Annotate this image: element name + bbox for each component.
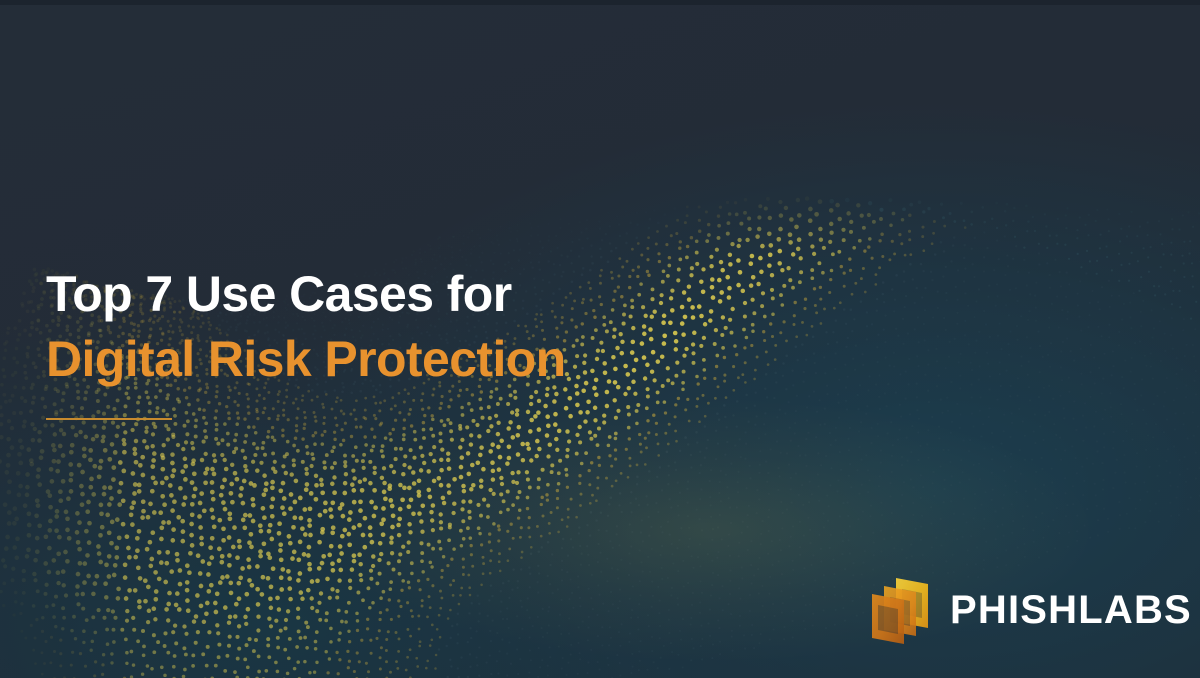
headline-divider-rule <box>46 418 172 420</box>
phishlabs-layered-squares-icon <box>866 574 934 646</box>
title-slide: Top 7 Use Cases for Digital Risk Protect… <box>0 0 1200 678</box>
phishlabs-wordmark: PHISHLABS . <box>950 590 1192 630</box>
phishlabs-wordmark-text: PHISHLABS <box>950 588 1192 632</box>
headline-line-1: Top 7 Use Cases for <box>46 262 746 327</box>
headline-line-2: Digital Risk Protection <box>46 327 746 392</box>
headline-block: Top 7 Use Cases for Digital Risk Protect… <box>46 262 746 420</box>
phishlabs-logo: PHISHLABS . <box>866 574 1192 646</box>
